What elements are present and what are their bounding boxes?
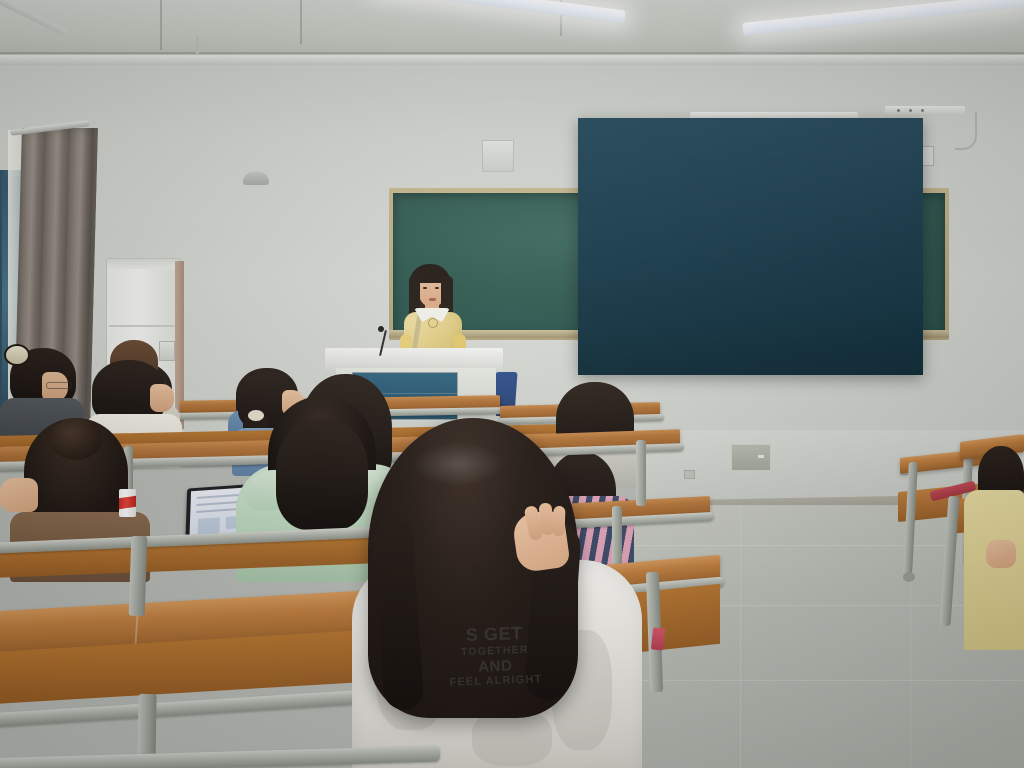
student-hand	[0, 478, 38, 512]
beverage-can[interactable]	[119, 489, 136, 517]
ac-seam	[109, 325, 175, 327]
ac-top-vent	[107, 259, 179, 269]
presenter-eye	[435, 287, 439, 289]
classroom-photo: 浙江外国语学院 东语学院2023届毕业生 就业政策指导 中泰交流 国际合作 东方…	[0, 0, 1024, 768]
ceiling-seam	[300, 0, 302, 44]
desk-post-right	[636, 440, 646, 506]
podium-top	[325, 348, 503, 370]
eyeglasses-icon	[46, 382, 72, 389]
wall-outlet[interactable]	[684, 470, 695, 479]
microphone-icon	[378, 326, 384, 332]
foreground-student-shirt-text: S GET TOGETHER AND FEEL ALRIGHT	[399, 621, 591, 692]
student-face-profile	[150, 384, 174, 412]
hair-scrunchie	[4, 344, 30, 366]
smoke-detector-icon	[243, 172, 269, 185]
projection-screen: 浙江外国语学院 东语学院2023届毕业生 就业政策指导 中泰交流 国际合作 东方…	[578, 118, 923, 375]
screen-control-switch[interactable]	[885, 106, 965, 116]
wall-plate	[482, 140, 514, 172]
desk-post-foreground	[129, 536, 148, 617]
ac-label-sticker	[159, 341, 175, 361]
desk-caster-wheel-icon	[903, 572, 915, 582]
presenter-necklace	[428, 318, 438, 328]
hair-tie	[248, 410, 264, 421]
presenter-mouth	[429, 298, 436, 301]
presenter-eye	[423, 287, 427, 289]
light-hanger-rod	[196, 36, 199, 54]
ceiling-edge	[0, 52, 1024, 54]
wall-electrical-panel[interactable]	[731, 444, 771, 471]
student-hand-right	[986, 540, 1016, 568]
hair-bun	[50, 418, 102, 460]
hair-highlight	[412, 442, 504, 486]
screen-cable	[955, 112, 977, 150]
wall-ceiling-band	[0, 55, 1024, 65]
pink-notebook[interactable]	[651, 627, 665, 650]
ceiling-seam	[160, 0, 162, 50]
finger	[552, 506, 565, 536]
